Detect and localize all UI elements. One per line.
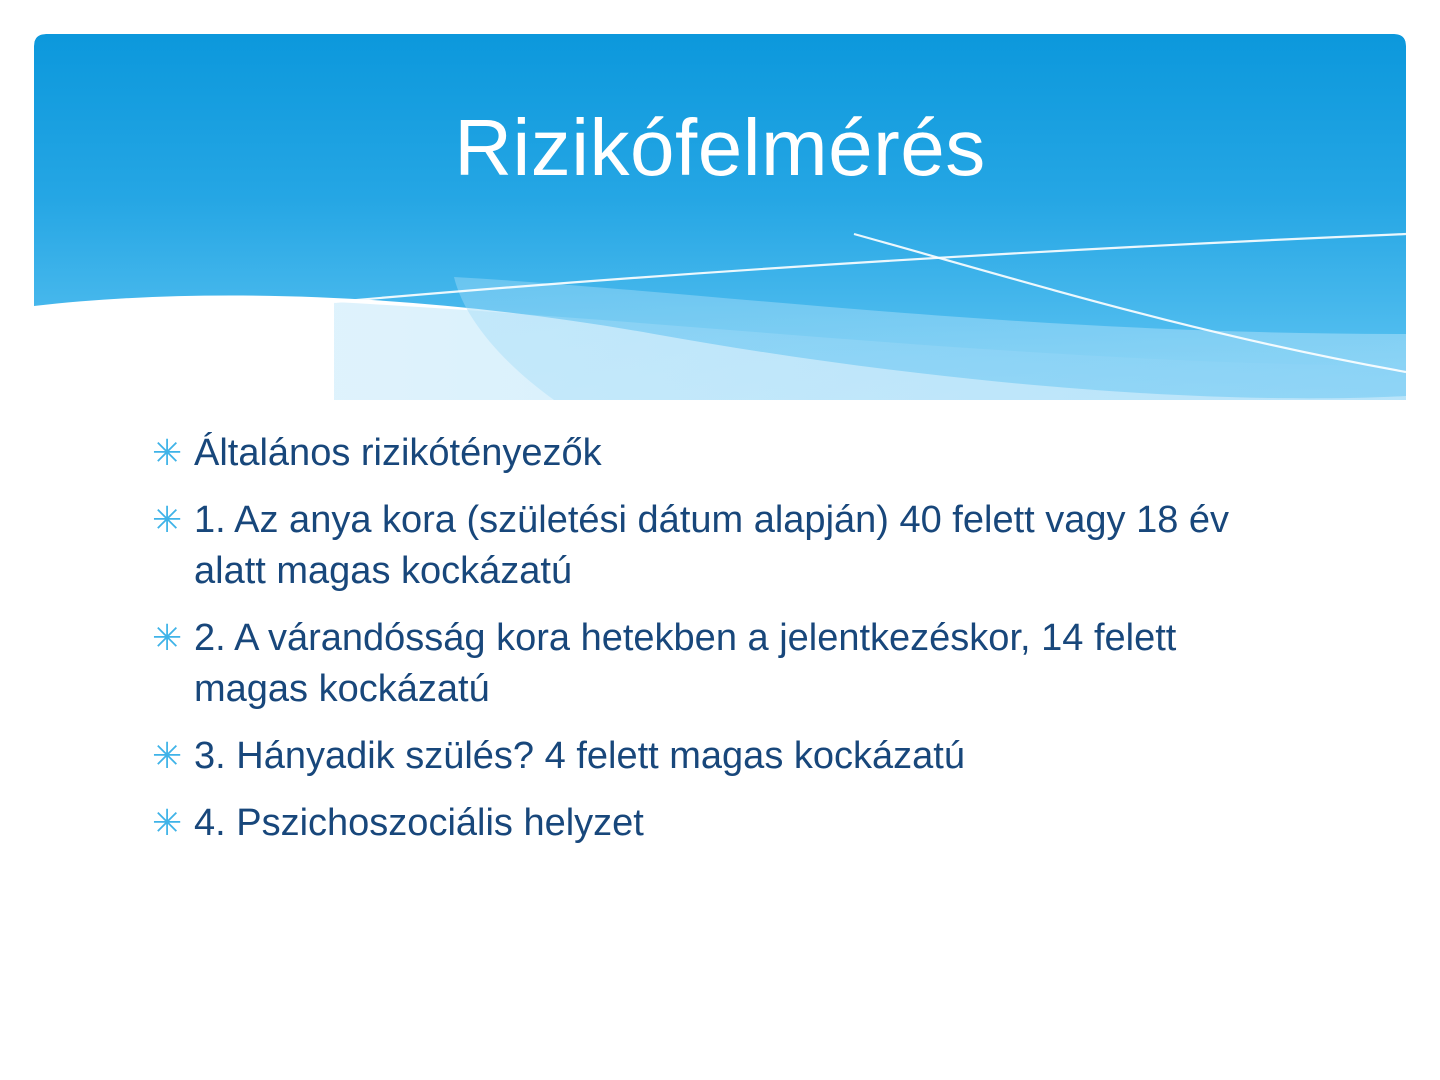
list-item-label: 2. A várandósság kora hetekben a jelentk…: [194, 613, 1260, 715]
list-item-label: 1. Az anya kora (születési dátum alapján…: [194, 495, 1260, 597]
list-item: ✳ 1. Az anya kora (születési dátum alapj…: [150, 495, 1260, 597]
page-title: Rizikófelmérés: [34, 100, 1406, 196]
presentation-slide: Rizikófelmérés ✳ Általános rizikótényező…: [0, 0, 1440, 1080]
list-item: ✳ Általános rizikótényezők: [150, 428, 1260, 479]
asterisk-bullet-icon: ✳: [150, 613, 194, 664]
list-item-label: 3. Hányadik szülés? 4 felett magas kocká…: [194, 731, 1260, 782]
asterisk-bullet-icon: ✳: [150, 798, 194, 849]
list-item: ✳ 4. Pszichoszociális helyzet: [150, 798, 1260, 849]
header-banner: [34, 34, 1406, 400]
asterisk-bullet-icon: ✳: [150, 731, 194, 782]
header-wave-graphic: [34, 34, 1406, 400]
list-item: ✳ 3. Hányadik szülés? 4 felett magas koc…: [150, 731, 1260, 782]
list-item: ✳ 2. A várandósság kora hetekben a jelen…: [150, 613, 1260, 715]
list-item-label: 4. Pszichoszociális helyzet: [194, 798, 1260, 849]
asterisk-bullet-icon: ✳: [150, 495, 194, 546]
asterisk-bullet-icon: ✳: [150, 428, 194, 479]
list-item-label: Általános rizikótényezők: [194, 428, 1260, 479]
bullet-list: ✳ Általános rizikótényezők ✳ 1. Az anya …: [150, 428, 1260, 865]
